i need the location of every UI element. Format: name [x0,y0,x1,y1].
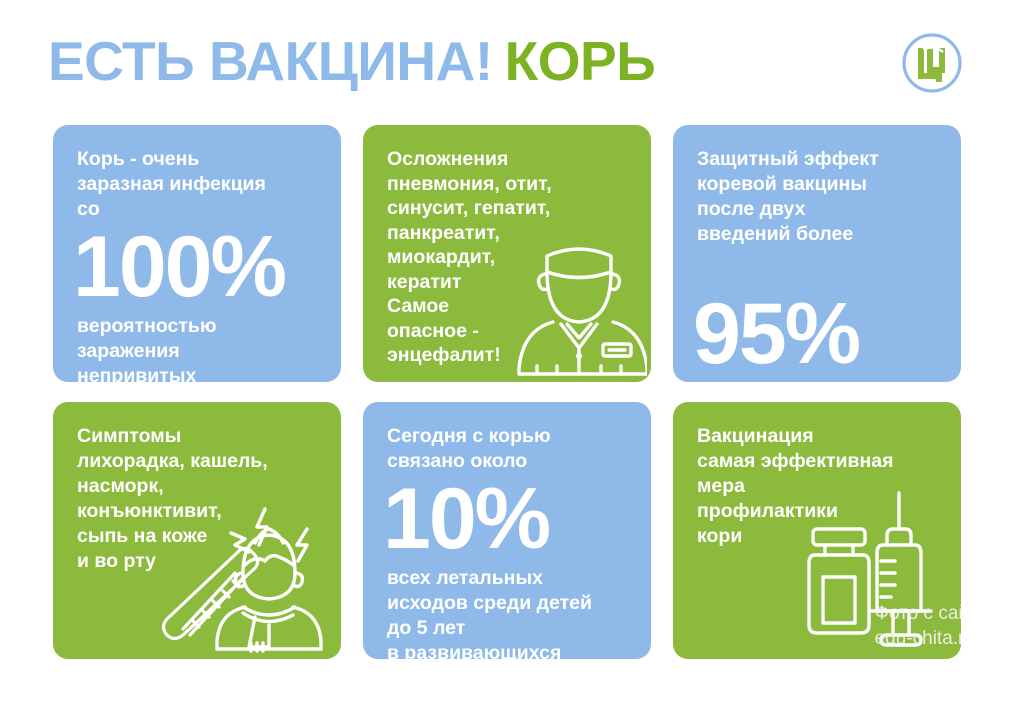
card-mortality: Сегодня с корью связано около 10% всех л… [363,402,651,659]
facts-grid: Корь - очень заразная инфекция со 100% в… [53,125,970,672]
card-big-value: 10% [383,476,631,562]
card-text-above: Защитный эффект коревой вакцины после дв… [697,147,941,247]
watermark-line-1: Фото с сай [875,601,961,626]
card-symptoms: Симптомы лихорадка, кашель, насморк, кон… [53,402,341,659]
card-text-above: Сегодня с корью связано около [387,424,631,474]
title-accent: КОРЬ [505,30,656,92]
card-text-above: Осложнения пневмония, отит, синусит, геп… [387,147,631,368]
poster-header: ЕСТЬ ВАКЦИНА!КОРЬ [0,0,1018,120]
source-watermark: Фото с сай edu-chita.r [875,601,961,651]
card-vaccine-effect: Защитный эффект коревой вакцины после дв… [673,125,961,382]
card-complications: Осложнения пневмония, отит, синусит, геп… [363,125,651,382]
title-main: ЕСТЬ ВАКЦИНА! [48,30,493,92]
card-text-above: Корь - очень заразная инфекция со [77,147,321,222]
card-text-below: всех летальных исходов среди детей до 5 … [387,566,631,659]
card-text-above: Симптомы лихорадка, кашель, насморк, кон… [77,424,321,574]
infographic-poster: ЕСТЬ ВАКЦИНА!КОРЬ Корь - очень заразная … [0,0,1018,720]
card-big-value: 95% [693,291,941,377]
page-title: ЕСТЬ ВАКЦИНА!КОРЬ [48,30,655,92]
center-medical-prevention-logo [901,32,963,94]
card-text-below: вероятностью заражения непривитых [77,314,321,382]
card-prevention: Вакцинация самая эффективная мера профил… [673,402,961,659]
watermark-line-2: edu-chita.r [875,626,961,651]
card-big-value: 100% [73,224,321,310]
card-text-above: Вакцинация самая эффективная мера профил… [697,424,941,549]
card-infectiousness: Корь - очень заразная инфекция со 100% в… [53,125,341,382]
